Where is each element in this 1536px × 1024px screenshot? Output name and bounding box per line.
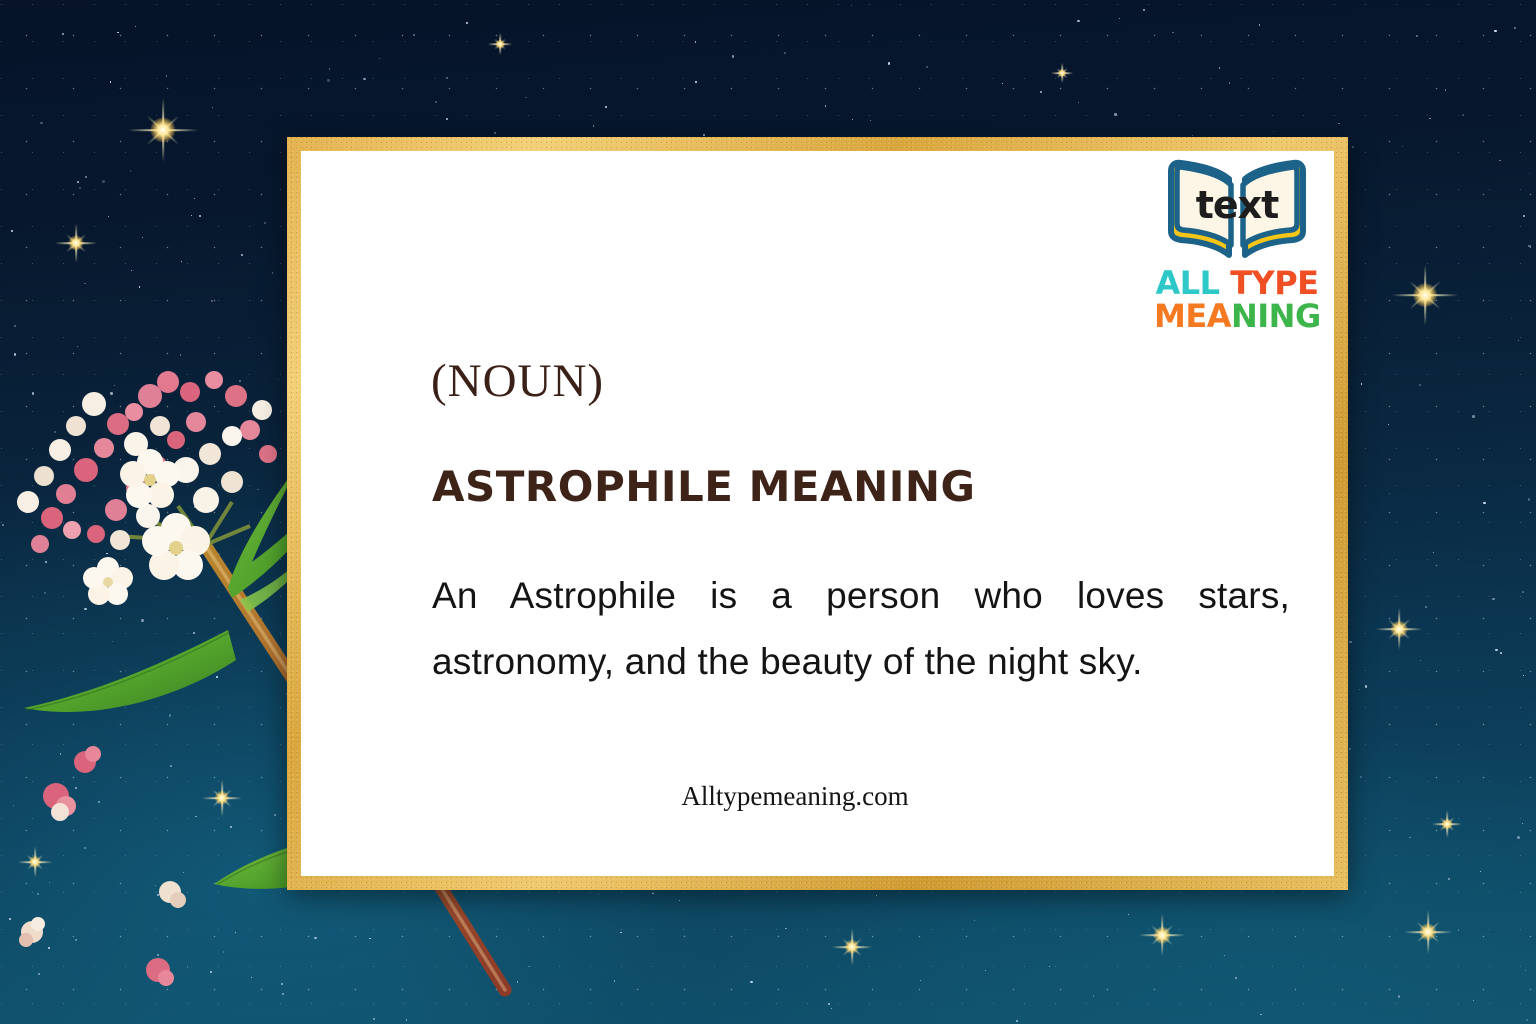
star-dot	[327, 79, 329, 81]
star-dot	[1229, 82, 1230, 83]
star-dot	[54, 431, 56, 433]
star-dot	[1259, 24, 1260, 25]
brand-word-ning: NING	[1231, 297, 1321, 335]
star-dot	[605, 106, 607, 108]
brand-word-mea: MEA	[1154, 297, 1231, 335]
star-dot	[282, 993, 284, 995]
brand-line-1: ALL TYPE	[1154, 267, 1320, 300]
star-dot	[1529, 173, 1530, 174]
definition-line-1: An Astrophile is a person who loves star…	[432, 563, 1290, 629]
star-dot	[1398, 995, 1400, 997]
star-dot	[1523, 215, 1525, 217]
star-dot	[102, 180, 105, 183]
star-dot	[108, 216, 109, 217]
star-dot	[11, 230, 13, 232]
star-dot	[1049, 966, 1050, 967]
star-dot	[1252, 44, 1253, 45]
star-dot	[695, 81, 697, 83]
star-dot	[157, 894, 158, 895]
star-dot	[732, 55, 734, 57]
star-dot	[1517, 836, 1520, 839]
star-dot	[241, 254, 243, 256]
star-dot	[1462, 114, 1464, 116]
star-dot	[870, 120, 871, 121]
definition-card-frame: text ALL TYPE MEANING (NOUN) ASTROPHILE …	[287, 137, 1348, 890]
star-dot	[235, 932, 236, 933]
site-attribution: Alltypemeaning.com	[301, 781, 1334, 812]
star-dot	[1495, 649, 1497, 651]
star-dot	[110, 392, 112, 394]
star-dot	[1349, 748, 1351, 750]
star-dot	[48, 947, 49, 948]
star-dot	[135, 26, 136, 27]
star-dot	[71, 424, 73, 426]
brand-logo[interactable]: text ALL TYPE MEANING	[1154, 157, 1320, 332]
star-dot	[828, 1003, 830, 1005]
star-dot	[193, 632, 195, 634]
brand-line-2: MEANING	[1154, 300, 1320, 333]
star-dot	[852, 119, 853, 120]
star-dot	[1425, 606, 1426, 607]
star-dot	[703, 134, 705, 136]
star-dot	[216, 676, 217, 677]
star-dot	[1114, 113, 1116, 115]
star-dot	[274, 814, 276, 816]
star-dot	[494, 132, 496, 134]
star-dot	[44, 592, 46, 594]
star-dot	[251, 977, 252, 978]
star-dot	[230, 826, 232, 828]
star-dot	[117, 32, 118, 33]
star-dot	[9, 919, 10, 920]
star-dot	[373, 1018, 375, 1020]
star-dot	[1473, 1000, 1474, 1001]
star-dot	[170, 765, 172, 767]
star-dot	[77, 181, 79, 183]
star-dot	[2, 524, 4, 526]
page-title: ASTROPHILE MEANING	[432, 462, 975, 511]
star-dot	[695, 41, 697, 43]
star-dot	[75, 787, 78, 790]
star-dot	[750, 981, 752, 983]
definition-line-2: astronomy, and the beauty of the night s…	[432, 629, 1292, 695]
star-dot	[32, 392, 35, 395]
star-dot	[1119, 18, 1120, 19]
star-dot	[210, 971, 212, 973]
star-dot	[223, 951, 224, 952]
star-dot	[79, 187, 81, 189]
star-dot	[1472, 415, 1475, 418]
part-of-speech-label: (NOUN)	[431, 354, 604, 408]
star-dot	[1500, 652, 1502, 654]
star-dot	[1365, 685, 1367, 687]
star-dot	[187, 967, 188, 968]
star-dot	[1494, 30, 1496, 32]
star-dot	[67, 528, 68, 529]
logo-book-word: text	[1161, 183, 1313, 227]
star-dot	[926, 66, 928, 68]
star-dot	[194, 198, 195, 199]
definition-text: An Astrophile is a person who loves star…	[432, 563, 1292, 695]
star-dot	[1528, 245, 1530, 247]
open-book-icon: text	[1161, 157, 1313, 265]
star-dot	[1235, 977, 1237, 979]
star-dot	[1349, 641, 1351, 643]
star-dot	[278, 379, 279, 380]
star-dot	[466, 22, 467, 23]
star-dot	[141, 619, 143, 621]
star-dot	[1525, 970, 1526, 971]
star-dot	[84, 608, 86, 610]
star-dot	[1416, 35, 1418, 37]
star-dot	[1359, 689, 1360, 690]
star-dot	[84, 847, 86, 849]
star-dot	[1273, 131, 1274, 132]
star-dot	[1360, 776, 1362, 778]
star-dot	[13, 805, 14, 806]
star-dot	[446, 77, 447, 78]
star-dot	[369, 938, 371, 940]
definition-card: text ALL TYPE MEANING (NOUN) ASTROPHILE …	[301, 151, 1334, 876]
star-dot	[1002, 83, 1003, 84]
star-dot	[314, 937, 316, 939]
star-dot	[112, 641, 113, 642]
star-dot	[85, 176, 86, 177]
star-dot	[784, 52, 786, 54]
star-dot	[1016, 1020, 1018, 1022]
star-dot	[84, 283, 85, 284]
star-dot	[14, 325, 15, 326]
star-dot	[281, 983, 283, 985]
star-dot	[1433, 552, 1434, 553]
star-dot	[9, 918, 11, 920]
star-dot	[166, 75, 167, 76]
